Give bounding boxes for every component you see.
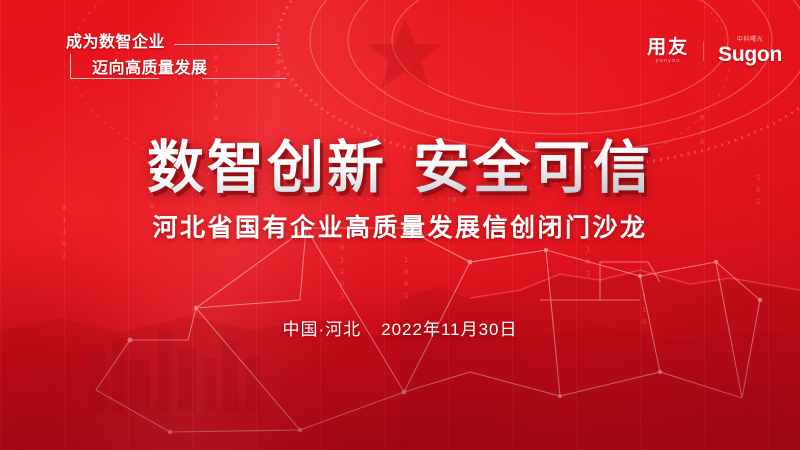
svg-text:1: 1 [214, 90, 218, 98]
main-title: 数智创新安全可信 [0, 122, 800, 204]
svg-text:1: 1 [586, 246, 590, 254]
svg-text:1: 1 [642, 306, 646, 314]
slogan-block: 成为数智企业 迈向高质量发展 [52, 24, 292, 86]
svg-text:1: 1 [214, 102, 218, 110]
logo-group: 用友 yonyou 中科曙光 Sugon [647, 34, 782, 68]
svg-text:0: 0 [586, 258, 590, 266]
svg-text:0: 0 [404, 280, 408, 288]
svg-text:0: 0 [700, 114, 704, 122]
slogan-rule-bottom [202, 78, 286, 79]
logo-divider [703, 41, 704, 61]
main-title-part-1: 数智创新 [147, 136, 387, 200]
svg-text:2: 2 [62, 252, 66, 260]
svg-text:1: 1 [340, 268, 344, 276]
slogan-line-2: 迈向高质量发展 [92, 54, 208, 78]
yonyou-logo-en: yonyou [656, 59, 681, 65]
svg-text:0: 0 [340, 244, 344, 252]
slogan-line-1: 成为数智企业 [66, 28, 165, 52]
svg-text:0: 0 [404, 268, 408, 276]
svg-text:0: 0 [340, 280, 344, 288]
main-title-part-2: 安全可信 [413, 136, 653, 200]
svg-text:1: 1 [340, 292, 344, 300]
slogan-rule-top [174, 44, 278, 45]
event-meta: 中国·河北2022年11月30日 [0, 315, 800, 340]
svg-text:1: 1 [404, 256, 408, 264]
svg-text:1: 1 [586, 270, 590, 278]
event-date: 2022年11月30日 [381, 320, 517, 339]
sugon-logo: 中科曙光 Sugon [718, 37, 782, 65]
sugon-logo-en: Sugon [718, 44, 782, 65]
svg-text:0: 0 [214, 114, 218, 122]
svg-text:1: 1 [340, 256, 344, 264]
event-location: 中国·河北 [282, 320, 361, 339]
svg-text:1: 1 [404, 292, 408, 300]
subtitle: 河北省国有企业高质量发展信创闭门沙龙 [0, 208, 800, 244]
yonyou-logo-cn: 用友 [647, 38, 689, 57]
svg-text:1: 1 [642, 294, 646, 302]
event-banner: 011 02 109 10 010 110 110 20 011 01 100 … [0, 0, 800, 450]
yonyou-logo: 用友 yonyou [647, 38, 689, 65]
